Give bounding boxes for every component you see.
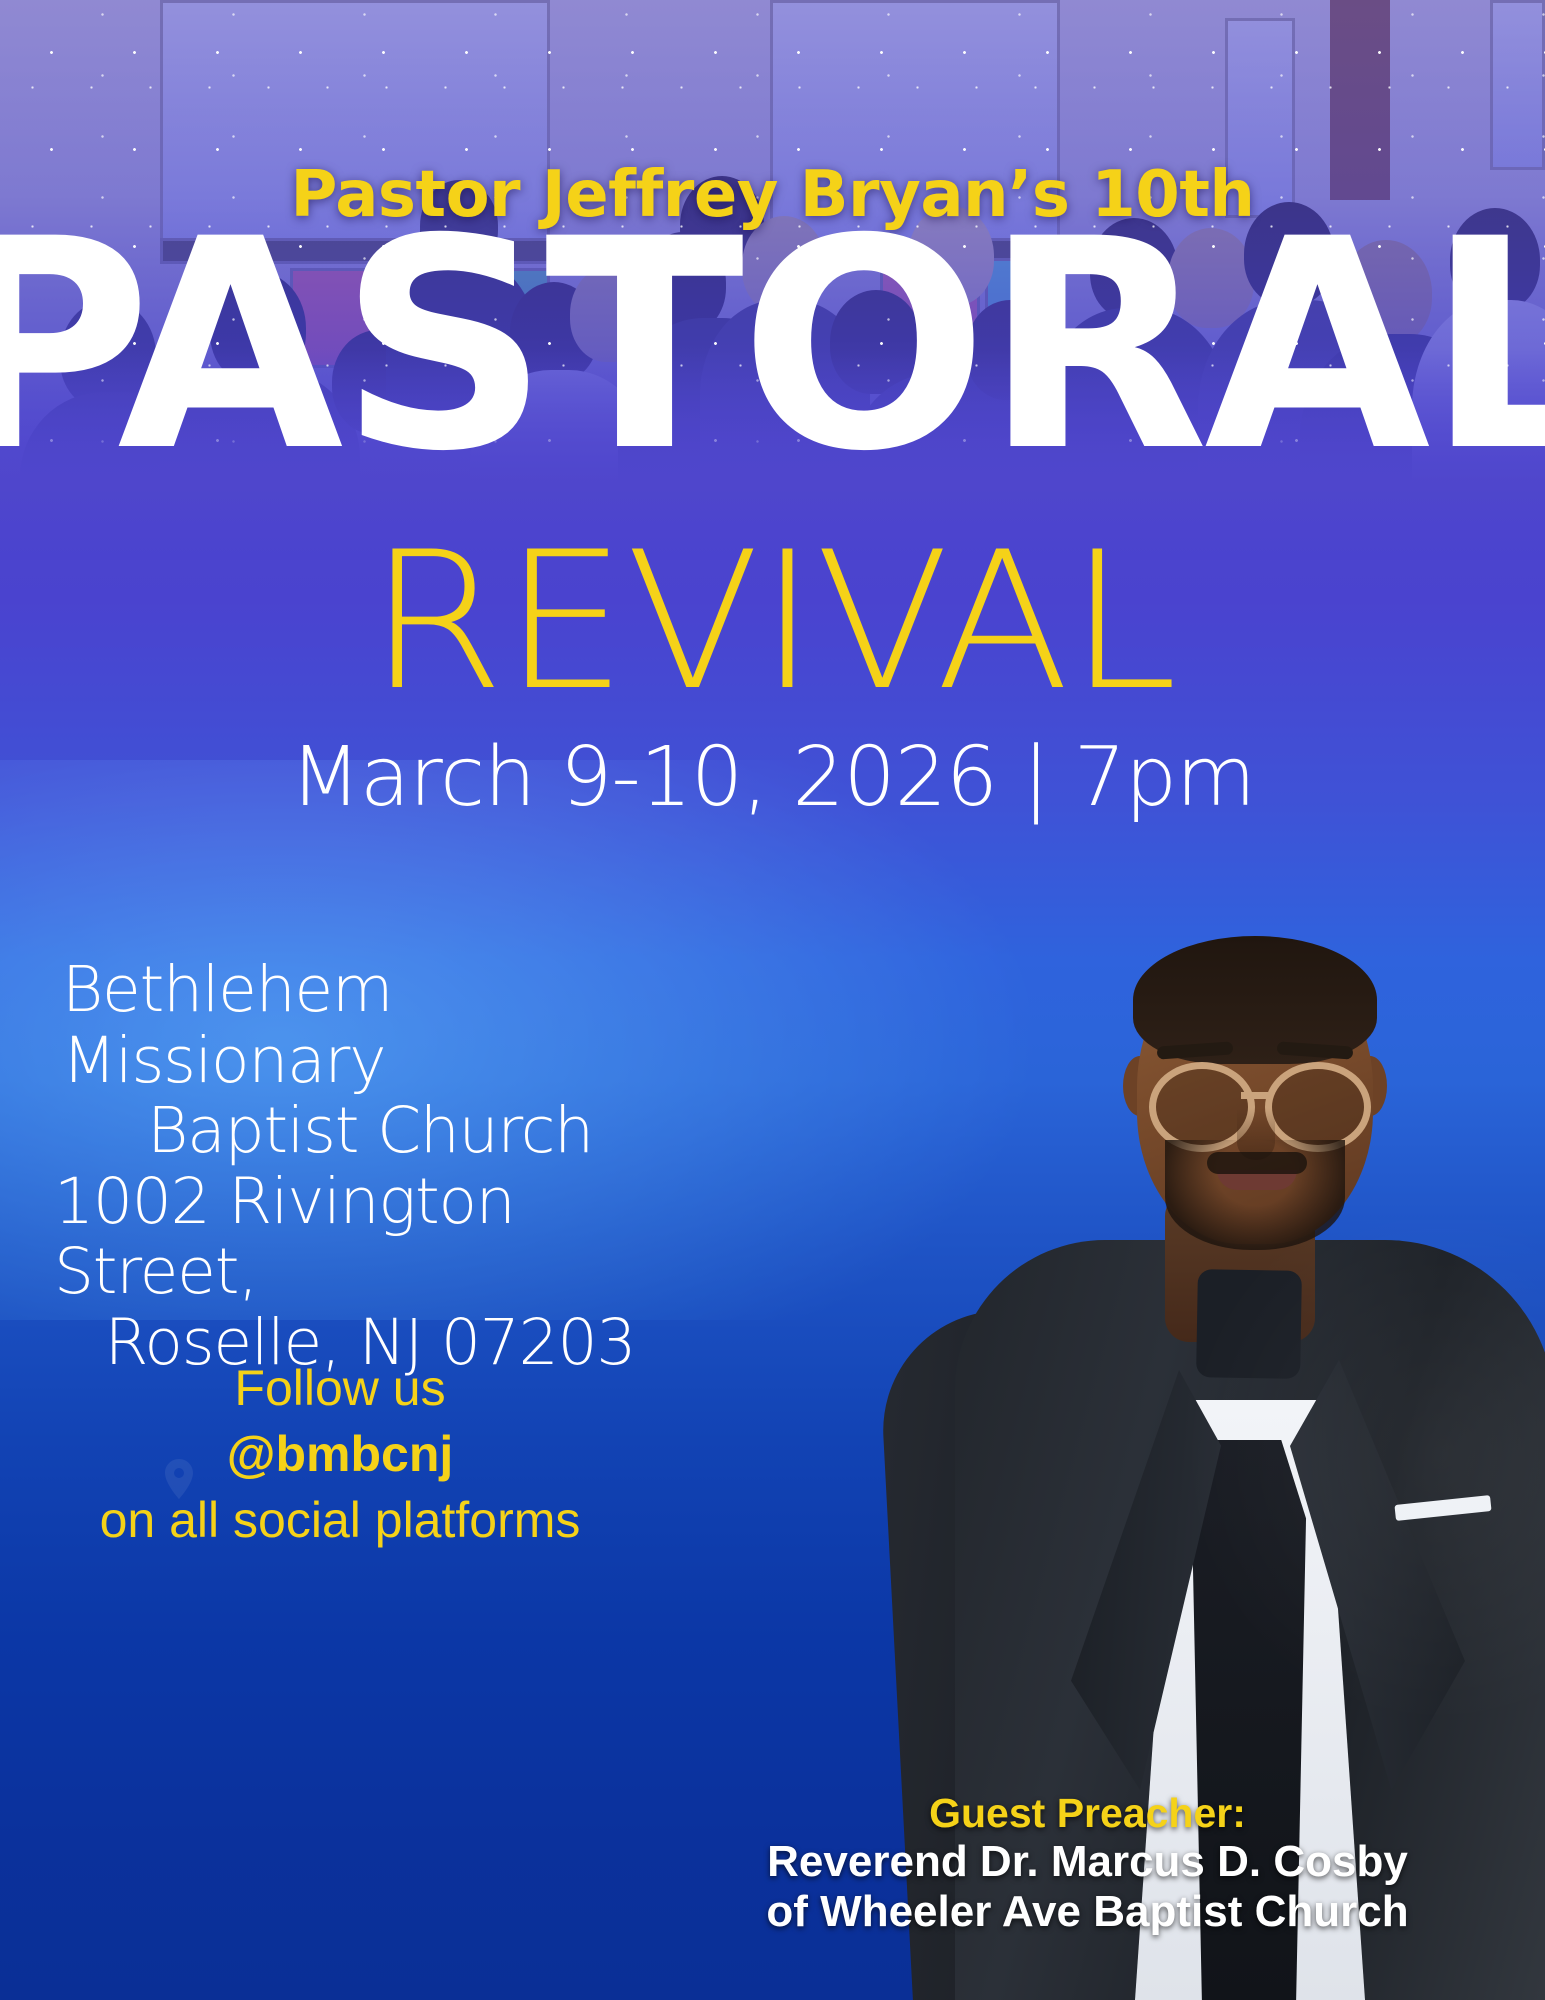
event-date-time: March 9-10, 2026 | 7pm bbox=[0, 730, 1545, 825]
page-subtitle: REVIVAL bbox=[0, 527, 1545, 717]
social-handle[interactable]: @bmbcnj bbox=[60, 1421, 620, 1487]
guest-preacher-label: Guest Preacher: bbox=[640, 1790, 1535, 1837]
eyeglasses-bridge bbox=[1241, 1092, 1269, 1099]
social-block: Follow us @bmbcnj on all social platform… bbox=[60, 1355, 620, 1553]
guest-preacher-name: Reverend Dr. Marcus D. Cosby bbox=[640, 1837, 1535, 1887]
social-follow-label: Follow us bbox=[60, 1355, 620, 1421]
venue-name-line-2: Baptist Church bbox=[40, 1096, 700, 1167]
guest-preacher-caption: Guest Preacher: Reverend Dr. Marcus D. C… bbox=[640, 1790, 1535, 1937]
venue-name-line-1: Bethlehem Missionary bbox=[62, 955, 700, 1096]
venue-street: 1002 Rivington Street, bbox=[54, 1167, 700, 1308]
mustache bbox=[1207, 1152, 1307, 1174]
guest-preacher-church: of Wheeler Ave Baptist Church bbox=[640, 1887, 1535, 1937]
event-flyer: Pastor Jeffrey Bryan’s 10th PASTORAL REV… bbox=[0, 0, 1545, 2000]
page-title: PASTORAL bbox=[0, 228, 1545, 466]
eyeglasses-lens-right bbox=[1265, 1062, 1371, 1152]
venue-address-block: Bethlehem Missionary Baptist Church 1002… bbox=[40, 955, 700, 1378]
social-platforms-note: on all social platforms bbox=[60, 1487, 620, 1553]
